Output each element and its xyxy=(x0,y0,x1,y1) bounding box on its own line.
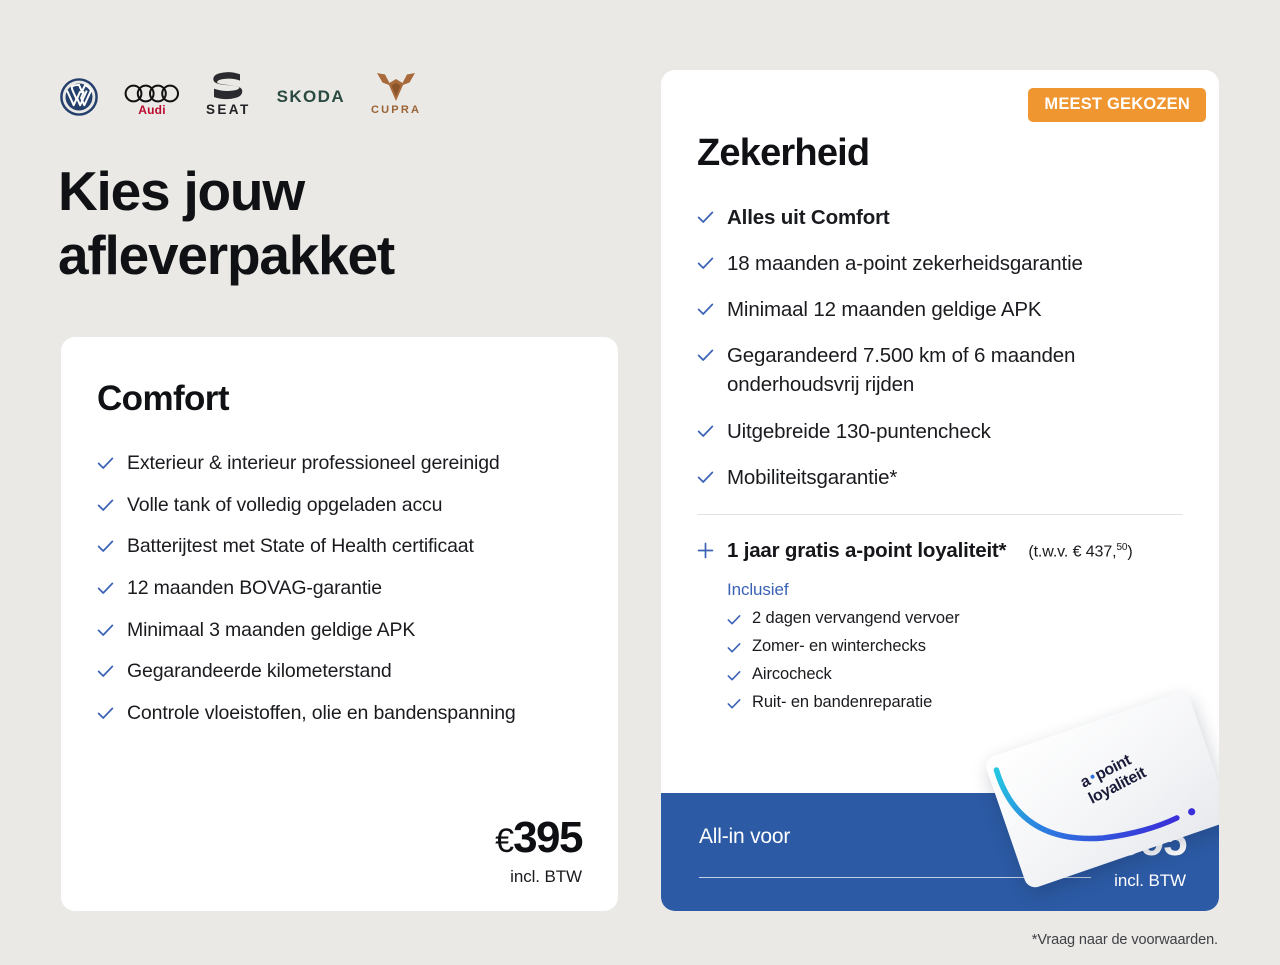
cupra-logo: CUPRA xyxy=(371,66,421,116)
list-item: Alles uit Comfort xyxy=(697,203,1183,232)
loyalty-bonus-title: 1 jaar gratis a-point loyaliteit* xyxy=(727,539,1006,563)
audi-rings-icon xyxy=(124,84,180,103)
check-icon xyxy=(697,423,714,440)
feature-text: Batterijtest met State of Health certifi… xyxy=(127,532,474,561)
list-item: Zomer- en winterchecks xyxy=(727,637,1183,656)
list-item: 18 maanden a-point zekerheidsgarantie xyxy=(697,249,1183,278)
feature-text: 18 maanden a-point zekerheidsgarantie xyxy=(727,249,1083,278)
list-item: Ruit- en bandenreparatie xyxy=(727,693,1183,712)
feature-text: Alles uit Comfort xyxy=(727,203,890,232)
check-icon xyxy=(97,455,114,472)
list-item: Exterieur & interieur professioneel gere… xyxy=(97,449,582,478)
comfort-feature-list: Exterieur & interieur professioneel gere… xyxy=(97,449,582,728)
feature-text: Mobiliteitsgarantie* xyxy=(727,463,897,492)
currency-symbol: € xyxy=(495,822,513,860)
list-item: Gegarandeerd 7.500 km of 6 maanden onder… xyxy=(697,341,1183,399)
check-icon xyxy=(727,697,741,711)
feature-text: Volle tank of volledig opgeladen accu xyxy=(127,491,442,520)
allin-label: All-in voor xyxy=(699,819,790,849)
list-item: Aircocheck xyxy=(727,665,1183,684)
feature-text: Minimaal 12 maanden geldige APK xyxy=(727,295,1041,324)
inclusief-item-text: Aircocheck xyxy=(752,665,832,684)
inclusief-label: Inclusief xyxy=(727,580,1183,600)
footnote: *Vraag naar de voorwaarden. xyxy=(1032,932,1218,948)
feature-text: 12 maanden BOVAG-garantie xyxy=(127,574,382,603)
volkswagen-icon xyxy=(60,78,98,116)
inclusief-list: 2 dagen vervangend vervoer Zomer- en win… xyxy=(727,609,1183,712)
comfort-price-note: incl. BTW xyxy=(495,867,582,887)
zekerheid-package-card: MEEST GEKOZEN Zekerheid Alles uit Comfor… xyxy=(661,70,1219,911)
list-item: Batterijtest met State of Health certifi… xyxy=(97,532,582,561)
list-item: Volle tank of volledig opgeladen accu xyxy=(97,491,582,520)
loyalty-bonus-row: 1 jaar gratis a-point loyaliteit* (t.w.v… xyxy=(697,539,1183,563)
seat-s-icon xyxy=(211,71,245,101)
feature-text: Uitgebreide 130-puntencheck xyxy=(727,417,991,446)
feature-text: Exterieur & interieur professioneel gere… xyxy=(127,449,500,478)
volkswagen-logo xyxy=(60,66,98,116)
check-icon xyxy=(727,613,741,627)
check-icon xyxy=(697,469,714,486)
loyalty-dot-icon xyxy=(1090,774,1095,779)
feature-text: Gegarandeerde kilometerstand xyxy=(127,657,392,686)
list-item: 2 dagen vervangend vervoer xyxy=(727,609,1183,628)
feature-text: Gegarandeerd 7.500 km of 6 maanden onder… xyxy=(727,341,1183,399)
check-icon xyxy=(727,641,741,655)
skoda-wordmark: SKODA xyxy=(277,88,345,105)
check-icon xyxy=(97,663,114,680)
inclusief-item-text: Zomer- en winterchecks xyxy=(752,637,926,656)
feature-text: Minimaal 3 maanden geldige APK xyxy=(127,616,415,645)
check-icon xyxy=(697,209,714,226)
skoda-logo: SKODA xyxy=(277,66,345,116)
check-icon xyxy=(97,580,114,597)
loyalty-value-prefix: (t.w.v. € 437, xyxy=(1028,544,1116,561)
cupra-emblem-icon xyxy=(374,72,418,102)
zekerheid-feature-list: Alles uit Comfort 18 maanden a-point zek… xyxy=(697,203,1183,492)
inclusief-item-text: Ruit- en bandenreparatie xyxy=(752,693,932,712)
check-icon xyxy=(727,669,741,683)
comfort-price: €395 xyxy=(495,816,582,860)
seat-wordmark: SEAT xyxy=(206,103,251,117)
seat-logo: SEAT xyxy=(206,66,251,116)
loyalty-bonus-value: (t.w.v. € 437,50) xyxy=(1028,542,1132,561)
audi-wordmark: Audi xyxy=(138,104,165,116)
list-item: 12 maanden BOVAG-garantie xyxy=(97,574,582,603)
check-icon xyxy=(697,301,714,318)
feature-text: Controle vloeistoffen, olie en bandenspa… xyxy=(127,699,516,728)
check-icon xyxy=(97,497,114,514)
zekerheid-card-body: MEEST GEKOZEN Zekerheid Alles uit Comfor… xyxy=(661,70,1219,712)
plus-icon xyxy=(697,542,714,559)
price-amount: 395 xyxy=(513,813,582,862)
list-item: Gegarandeerde kilometerstand xyxy=(97,657,582,686)
loyalty-value-suffix: ) xyxy=(1127,544,1132,561)
cupra-wordmark: CUPRA xyxy=(371,105,421,116)
page-title: Kies jouw afleverpakket xyxy=(58,160,394,288)
brand-logo-strip: Audi SEAT SKODA CUPRA xyxy=(60,66,421,116)
check-icon xyxy=(97,705,114,722)
section-divider xyxy=(697,514,1183,515)
delivery-package-comparison-page: Audi SEAT SKODA CUPRA Kies jouw afleverp… xyxy=(0,0,1280,965)
list-item: Mobiliteitsgarantie* xyxy=(697,463,1183,492)
zekerheid-price-note: incl. BTW xyxy=(1099,871,1186,891)
comfort-card-title: Comfort xyxy=(97,379,582,419)
check-icon xyxy=(97,538,114,555)
status-badge: MEEST GEKOZEN xyxy=(1028,88,1206,122)
list-item: Minimaal 12 maanden geldige APK xyxy=(697,295,1183,324)
comfort-package-card: Comfort Exterieur & interieur profession… xyxy=(61,337,618,911)
list-item: Minimaal 3 maanden geldige APK xyxy=(97,616,582,645)
zekerheid-card-title: Zekerheid xyxy=(697,132,1183,175)
loyalty-value-cents: 50 xyxy=(1116,542,1127,553)
check-icon xyxy=(697,347,714,364)
inclusief-item-text: 2 dagen vervangend vervoer xyxy=(752,609,959,628)
check-icon xyxy=(97,622,114,639)
audi-logo: Audi xyxy=(124,66,180,116)
list-item: Controle vloeistoffen, olie en bandenspa… xyxy=(97,699,582,728)
comfort-price-block: €395 incl. BTW xyxy=(495,816,582,887)
list-item: Uitgebreide 130-puntencheck xyxy=(697,417,1183,446)
check-icon xyxy=(697,255,714,272)
